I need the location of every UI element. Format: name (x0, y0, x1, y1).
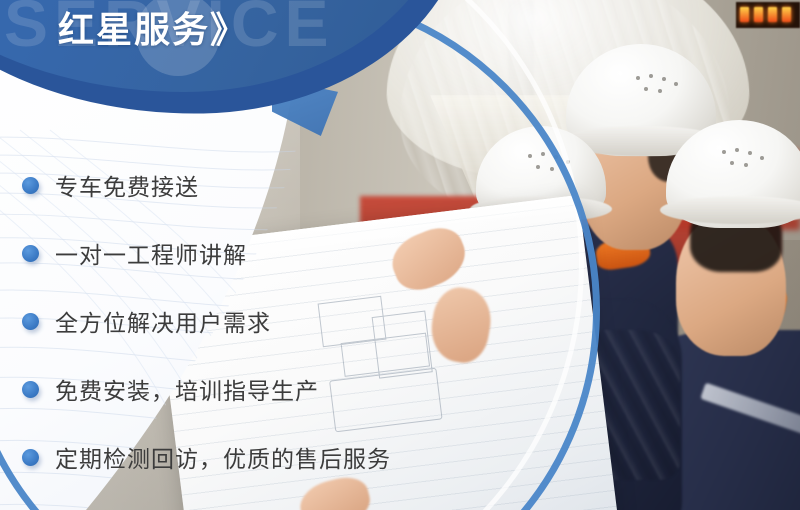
list-item-label: 全方位解决用户需求 (55, 304, 271, 338)
list-item-label: 专车免费接送 (55, 168, 199, 202)
bullet-dot-icon (22, 313, 39, 330)
list-item-label: 免费安装，培训指导生产 (55, 372, 319, 406)
list-item[interactable]: 免费安装，培训指导生产 (22, 372, 319, 406)
service-banner-card: SERVICE 红星服务》 专车免费接送 一对一工程师讲解 全方位解决用户需求 … (0, 0, 800, 510)
list-item-label: 定期检测回访，优质的售后服务 (55, 440, 391, 474)
hard-hat-vents-mid (636, 74, 682, 96)
bullet-dot-icon (22, 449, 39, 466)
list-item[interactable]: 专车免费接送 (22, 168, 199, 202)
page-title: 红星服务》 (58, 12, 248, 48)
list-item-label: 一对一工程师讲解 (55, 236, 247, 270)
header-banner: SERVICE 红星服务》 (0, 0, 450, 92)
list-item[interactable]: 全方位解决用户需求 (22, 304, 271, 338)
bullet-dot-icon (22, 381, 39, 398)
list-item[interactable]: 一对一工程师讲解 (22, 236, 247, 270)
bullet-dot-icon (22, 245, 39, 262)
led-sign (736, 2, 800, 28)
bullet-dot-icon (22, 177, 39, 194)
hard-hat-vents-right (722, 148, 768, 170)
list-item[interactable]: 定期检测回访，优质的售后服务 (22, 440, 391, 474)
